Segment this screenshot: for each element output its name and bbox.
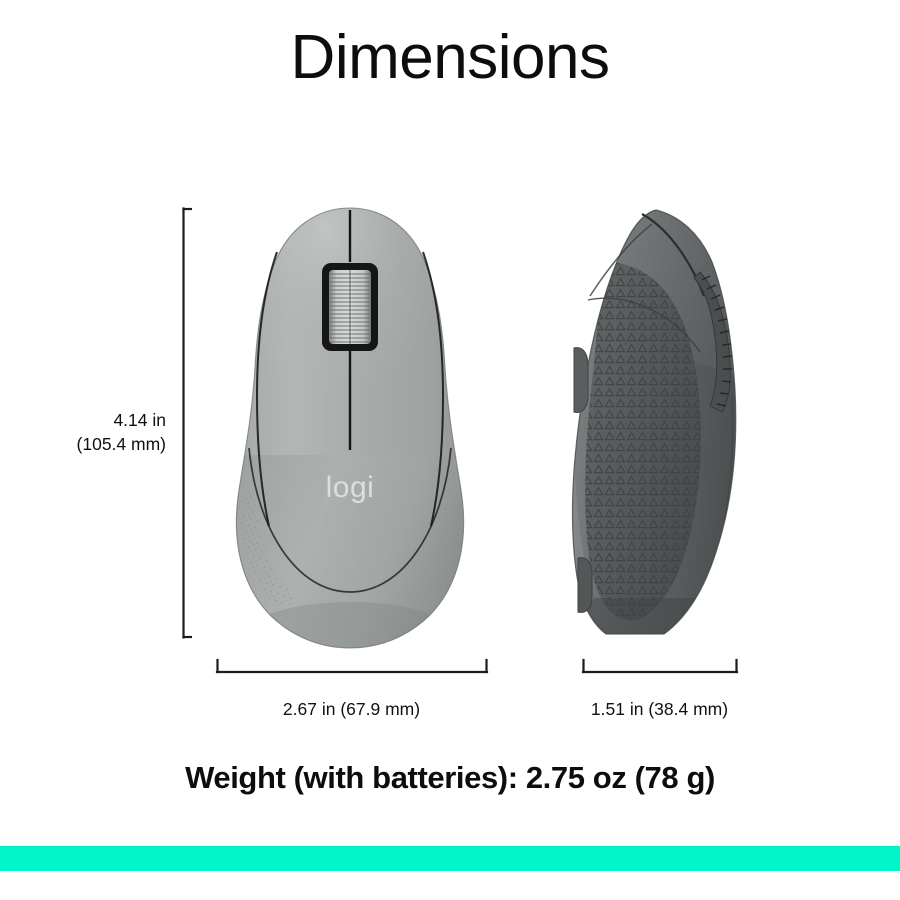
logi-wordmark: logi [326,471,375,504]
mouse-side-view-image [560,200,745,650]
accent-bar [0,846,900,871]
height-dimension-inches: 4.14 in [0,408,166,432]
dimensions-infographic: Dimensions 4.14 in (105.4 mm) [0,0,900,900]
scroll-wheel [322,263,378,351]
page-title: Dimensions [0,22,900,93]
top-view-width-bracket [212,658,491,674]
mouse-top-view-image: logi [205,200,495,650]
weight-statement: Weight (with batteries): 2.75 oz (78 g) [0,760,900,796]
side-view-width-bracket [578,658,741,674]
height-dimension-bracket [178,207,192,639]
height-dimension-mm: (105.4 mm) [0,432,166,456]
top-view-width-label: 2.67 in (67.9 mm) [216,697,487,721]
side-view-width-label: 1.51 in (38.4 mm) [582,697,737,721]
side-lower-detail [578,558,592,613]
side-thumb-button [574,348,588,413]
height-dimension-label: 4.14 in (105.4 mm) [0,408,166,456]
